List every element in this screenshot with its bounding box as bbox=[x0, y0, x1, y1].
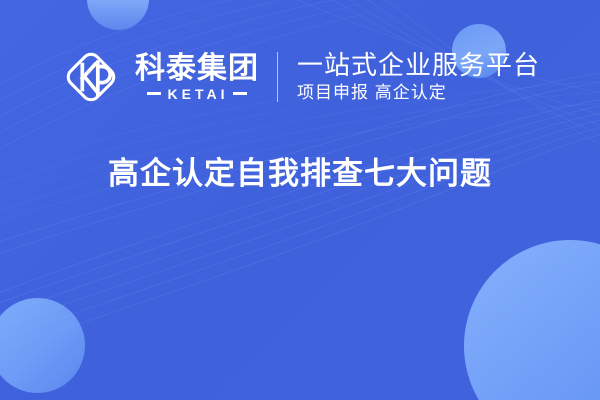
brand-slogan-divider bbox=[277, 52, 278, 102]
slogan-secondary: 项目申报 高企认定 bbox=[297, 83, 540, 103]
brand-name-en: KETAI bbox=[166, 87, 229, 101]
brand-lockup: 科泰集团 KETAI bbox=[60, 46, 259, 108]
brand-dash-left-icon bbox=[147, 92, 161, 95]
banner-title: 高企认定自我排查七大问题 bbox=[0, 155, 600, 192]
decorative-circle-top-left bbox=[87, 0, 149, 30]
brand-dash-right-icon bbox=[233, 92, 247, 95]
banner-header: 科泰集团 KETAI 一站式企业服务平台 项目申报 高企认定 bbox=[0, 38, 600, 116]
slogan-block: 一站式企业服务平台 项目申报 高企认定 bbox=[297, 51, 540, 103]
decorative-circle-right-large bbox=[464, 240, 600, 400]
decorative-circle-left-lower bbox=[0, 298, 85, 393]
ketai-diamond-kp-logo-icon bbox=[60, 46, 122, 108]
brand-name-en-row: KETAI bbox=[147, 87, 248, 101]
brand-wordmark: 科泰集团 KETAI bbox=[135, 53, 259, 101]
slogan-primary: 一站式企业服务平台 bbox=[297, 51, 540, 80]
brand-name-cn: 科泰集团 bbox=[135, 53, 259, 85]
promo-banner: 科泰集团 KETAI 一站式企业服务平台 项目申报 高企认定 高企认定自我排查七… bbox=[0, 0, 600, 400]
